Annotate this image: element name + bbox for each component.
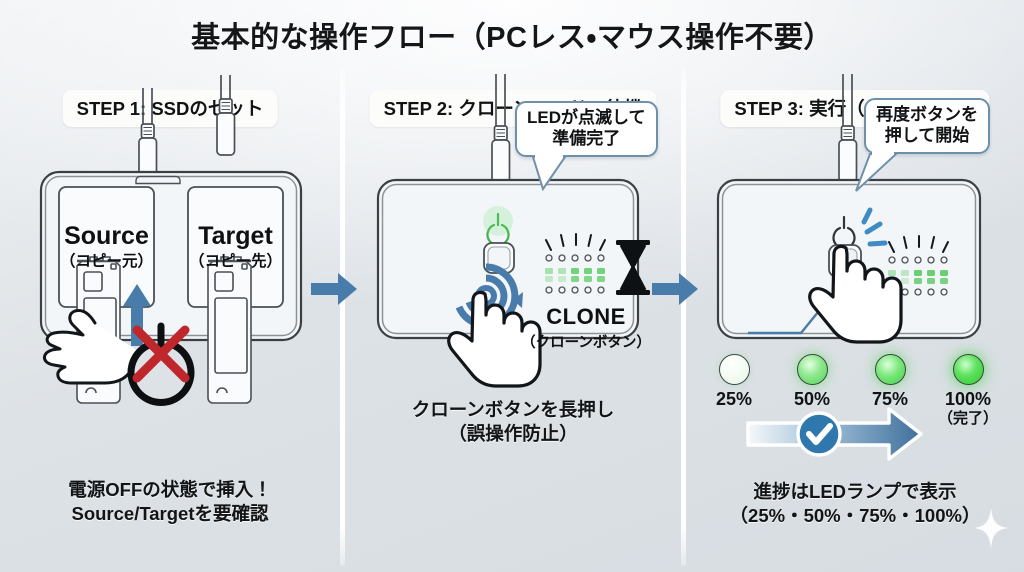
- step-2-caption: クローンボタンを長押し （誤操作防止）: [345, 398, 681, 446]
- progress-led-75-label: 75%: [858, 389, 922, 410]
- step-2-callout-bubble: LEDが点滅して 準備完了: [515, 101, 658, 157]
- progress-led-50-label: 50%: [780, 389, 844, 410]
- led-dot-75-icon: [875, 354, 906, 385]
- cable-right-icon: [217, 75, 235, 155]
- progress-led-100-label: 100%: [936, 389, 1000, 410]
- progress-led-25-label: 25%: [702, 389, 766, 410]
- step-3-panel: STEP 3: 実行（コピー開始）: [686, 68, 1024, 568]
- step-3-caption-line-1: 進捗はLEDランプで表示: [686, 480, 1024, 504]
- progress-led-50: 50%: [780, 354, 844, 410]
- step-1-caption: 電源OFFの状態で挿入！ Source/Targetを要確認: [0, 478, 340, 526]
- clone-label-group: CLONE （クローンボタン）: [521, 304, 651, 352]
- power-off-prohibited-icon: [131, 326, 191, 402]
- led-dot-25-icon: [719, 354, 750, 385]
- progress-led-100: 100% （完了）: [936, 354, 1000, 427]
- step-2-bubble-tail: [531, 156, 571, 192]
- step-2-bubble-line-2: 準備完了: [527, 129, 646, 150]
- led-dot-50-icon: [797, 354, 828, 385]
- step-3-bubble-tail: [854, 153, 898, 193]
- step-3-callout-bubble: 再度ボタンを 押して開始: [864, 98, 990, 154]
- step-1-panel: STEP 1: SSDのセット: [0, 68, 340, 568]
- clone-sublabel: （クローンボタン）: [521, 331, 651, 352]
- step-2-caption-line-2: （誤操作防止）: [345, 422, 681, 446]
- target-label-jp: （コピー先）: [189, 254, 282, 270]
- slide-canvas: 基本的な操作フロー（PCレス・マウス操作不要） STEP 1: SSDのセット: [0, 0, 1024, 572]
- step-1-caption-line-2: Source/Targetを要確認: [0, 502, 340, 526]
- source-label-en: Source: [64, 224, 149, 249]
- clone-label: CLONE: [521, 304, 651, 330]
- source-label-jp: （コピー元）: [60, 254, 153, 270]
- step-2-bubble-line-1: LEDが点滅して: [527, 108, 646, 129]
- step-2-panel: STEP 2: クローンモードの待機: [345, 68, 681, 568]
- step-2-caption-line-1: クローンボタンを長押し: [345, 398, 681, 422]
- cable-icon: [492, 74, 510, 182]
- progress-led-25: 25%: [702, 354, 766, 410]
- step-3-bubble-line-2: 押して開始: [876, 126, 978, 147]
- progress-arrow-icon: [748, 409, 921, 459]
- slot-label-target: Target （コピー先）: [188, 187, 283, 307]
- step-3-bubble-line-1: 再度ボタンを: [876, 105, 978, 126]
- sparkle-decoration-icon: [974, 508, 1008, 548]
- cable-left-icon: [139, 88, 157, 178]
- led-dot-100-icon: [953, 354, 984, 385]
- target-label-en: Target: [198, 224, 273, 249]
- progress-led-100-sublabel: （完了）: [936, 410, 1000, 427]
- page-title: 基本的な操作フロー（PCレス・マウス操作不要）: [0, 14, 1024, 56]
- slot-label-source: Source （コピー元）: [59, 187, 154, 307]
- step-1-caption-line-1: 電源OFFの状態で挿入！: [0, 478, 340, 502]
- progress-led-75: 75%: [858, 354, 922, 410]
